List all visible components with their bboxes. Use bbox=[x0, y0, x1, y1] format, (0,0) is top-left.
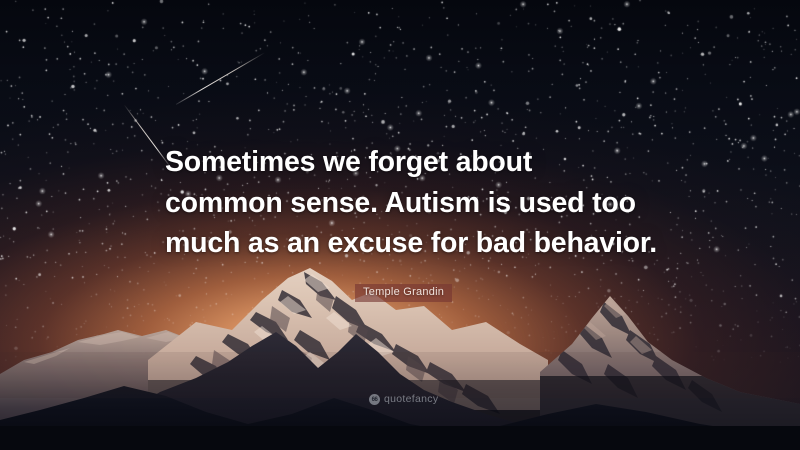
quote-author: Temple Grandin bbox=[355, 284, 452, 302]
quote-wallpaper: Sometimes we forget about common sense. … bbox=[0, 0, 800, 450]
watermark-brand: quotefancy bbox=[384, 394, 438, 405]
night-sky-background bbox=[0, 0, 800, 450]
quotefancy-watermark: 66 quotefancy bbox=[369, 394, 438, 405]
quote-mark-icon: 66 bbox=[369, 394, 380, 405]
